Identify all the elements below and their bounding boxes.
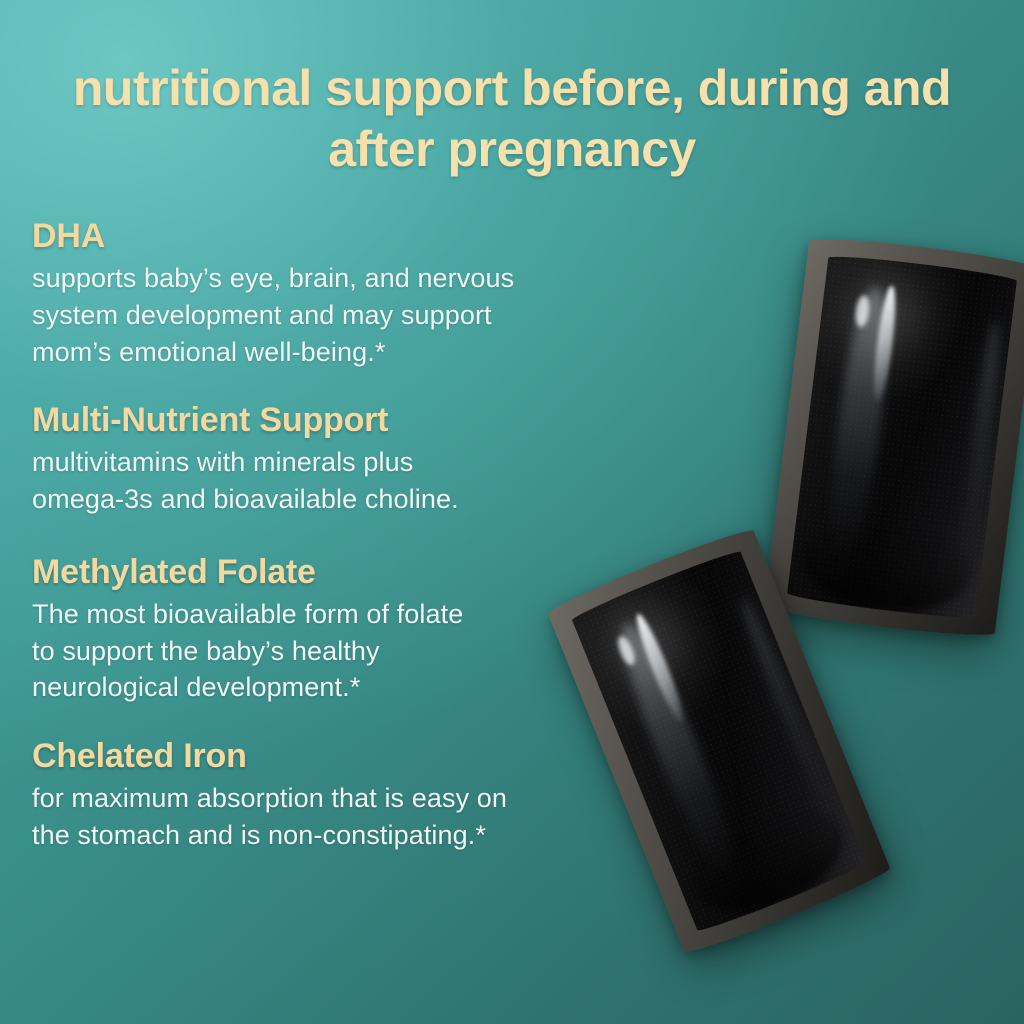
benefit-body-line: multivitamins with minerals plus [32, 444, 672, 481]
page-title: nutritional support before, during and a… [40, 58, 984, 180]
page-title-line-1: nutritional support before, during [73, 60, 850, 116]
capsule-image-top [764, 233, 1024, 640]
benefit-body-line: omega-3s and bioavailable choline. [32, 481, 672, 518]
benefit-item-multi-nutrient-support: Multi-Nutrient Support multivitamins wit… [32, 400, 672, 518]
benefit-item-chelated-iron: Chelated Iron for maximum absorption tha… [32, 736, 672, 854]
benefit-body-line: mom’s emotional well-being.* [32, 334, 672, 371]
benefit-title-chelated-iron: Chelated Iron [32, 736, 672, 776]
benefit-body-line: system development and may support [32, 297, 672, 334]
benefit-body-line: supports baby’s eye, brain, and nervous [32, 260, 672, 297]
benefit-title-multi-nutrient-support: Multi-Nutrient Support [32, 400, 672, 440]
benefit-body-chelated-iron: for maximum absorption that is easy on t… [32, 780, 672, 853]
benefit-body-multi-nutrient-support: multivitamins with minerals plus omega-3… [32, 444, 672, 517]
benefit-body-dha: supports baby’s eye, brain, and nervous … [32, 260, 672, 370]
benefit-title-dha: DHA [32, 216, 672, 256]
product-benefits-infographic: nutritional support before, during and a… [0, 0, 1024, 1024]
benefit-body-line: the stomach and is non-constipating.* [32, 817, 672, 854]
benefit-item-dha: DHA supports baby’s eye, brain, and nerv… [32, 216, 672, 370]
benefit-body-line: for maximum absorption that is easy on [32, 780, 672, 817]
benefits-list: DHA supports baby’s eye, brain, and nerv… [32, 216, 672, 854]
benefit-title-methylated-folate: Methylated Folate [32, 552, 672, 592]
